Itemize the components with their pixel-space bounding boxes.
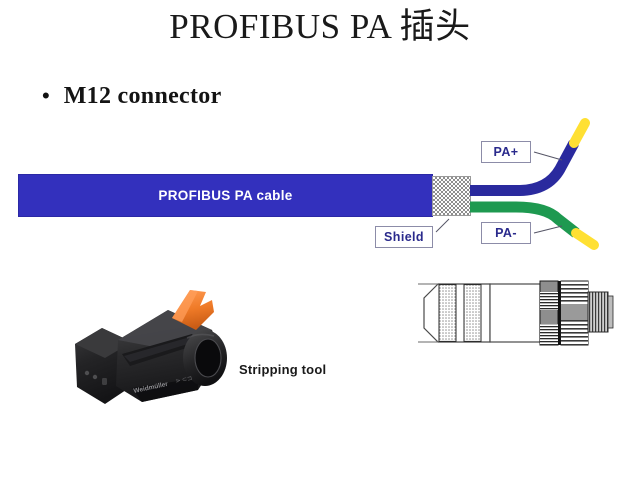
bullet-dot-icon: • — [42, 83, 50, 109]
page-title: PROFIBUS PA 插头 — [0, 6, 640, 48]
connector-nose — [424, 284, 490, 342]
stripping-tool-caption: Stripping tool — [239, 362, 326, 377]
m12-connector-drawing — [418, 272, 626, 354]
bullet-item-label: M12 connector — [64, 82, 222, 110]
connector-pin-end — [588, 292, 613, 332]
slide-canvas: PROFIBUS PA 插头 • M12 connector PROFIBUS … — [0, 0, 640, 480]
cable-body-label: PROFIBUS PA cable — [19, 175, 432, 216]
callout-pa-minus: PA- — [481, 222, 531, 244]
leader-line-shield — [436, 219, 449, 232]
connector-coupling-nut — [540, 281, 588, 345]
profibus-cable-body: PROFIBUS PA cable — [18, 174, 433, 217]
callout-shield: Shield — [375, 226, 433, 248]
callout-pa-plus: PA+ — [481, 141, 531, 163]
leader-line-pa-plus — [534, 152, 562, 160]
shield-braid-mesh — [432, 176, 471, 216]
stripping-tool-photo: Weidmüller ⋗ ⊂⊐ — [72, 282, 238, 422]
bullet-item: • M12 connector — [42, 82, 222, 110]
connector-barrel — [490, 284, 540, 342]
leader-line-pa-minus — [534, 226, 562, 233]
